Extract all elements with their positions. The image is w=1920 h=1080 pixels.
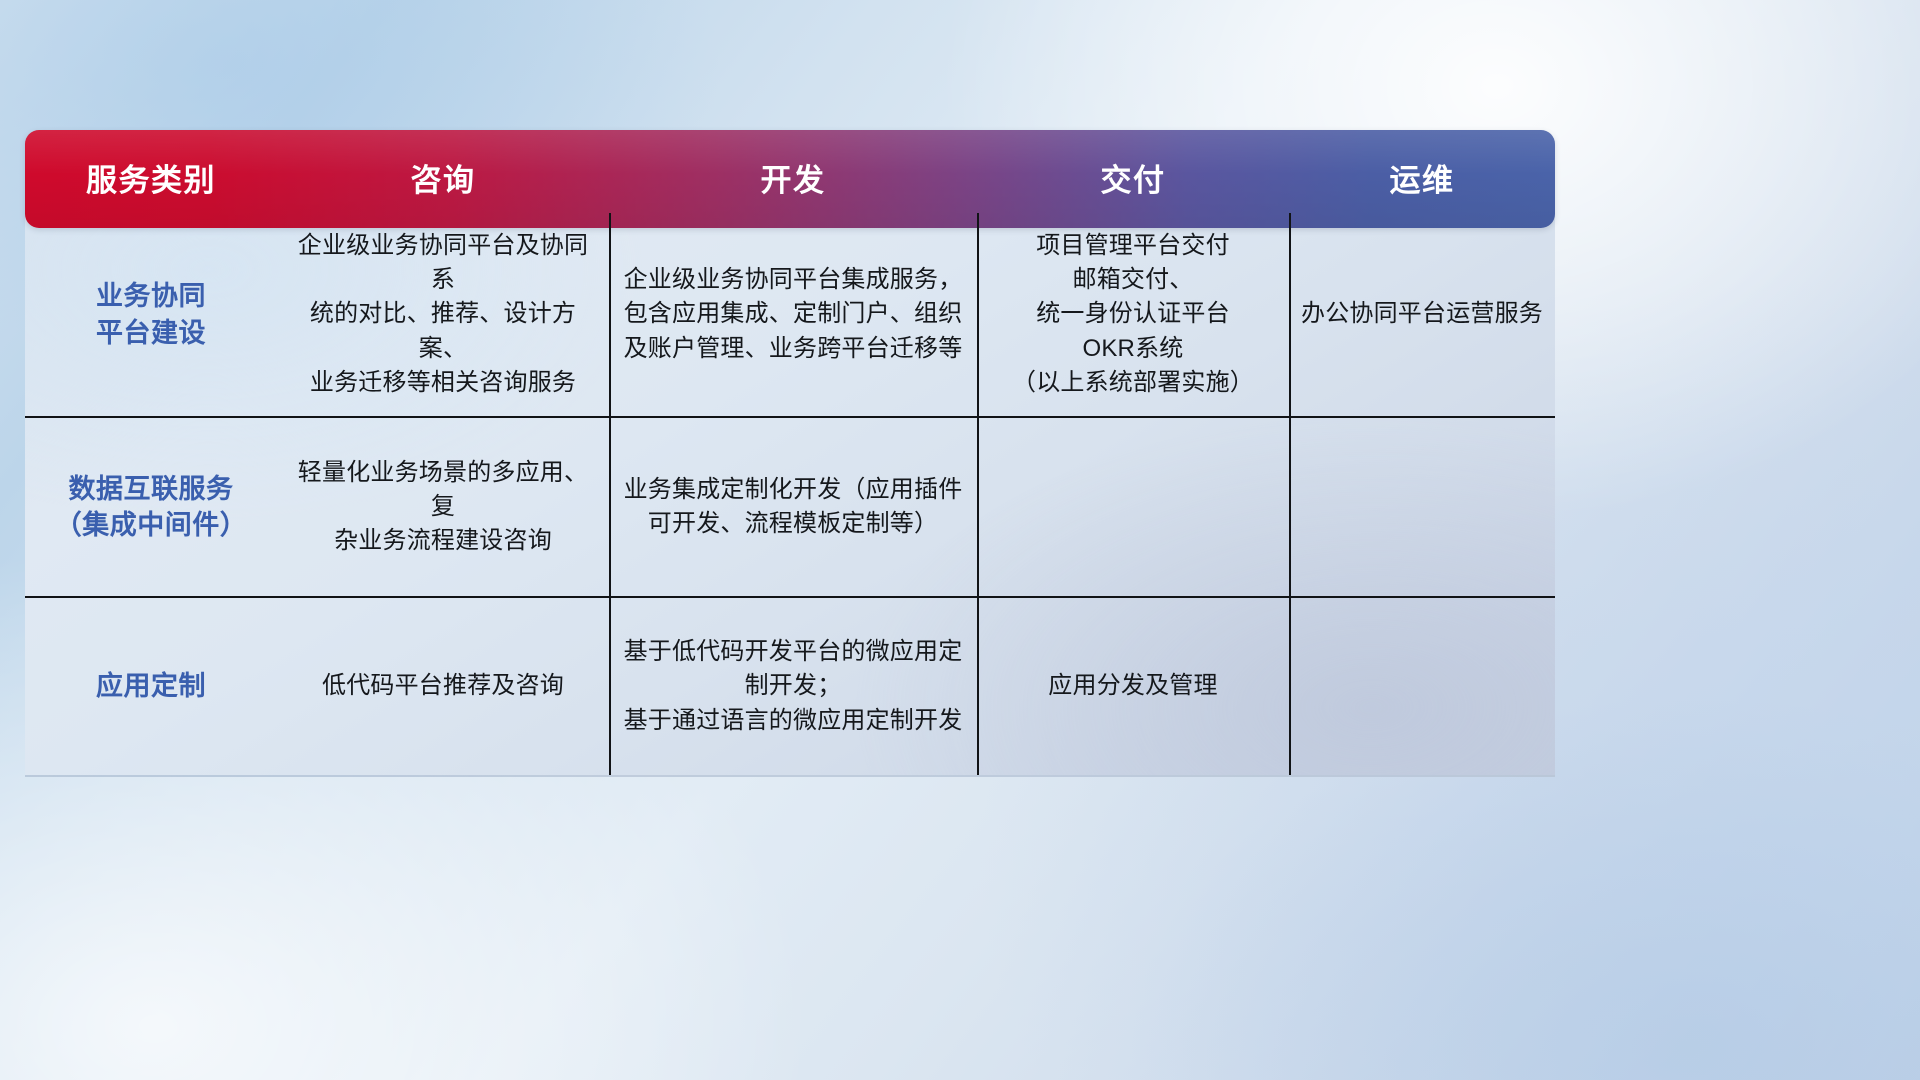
service-matrix-table: 服务类别 咨询 开发 交付 运维 业务协同 平台建设 企业级业务协同平台及协同系… <box>25 110 1555 775</box>
table-row: 业务协同 平台建设 企业级业务协同平台及协同系 统的对比、推荐、设计方案、 业务… <box>25 213 1555 418</box>
cell-operations <box>1289 418 1555 596</box>
cell-consulting: 轻量化业务场景的多应用、复 杂业务流程建设咨询 <box>277 418 609 596</box>
row-label-cell: 数据互联服务 （集成中间件） <box>25 418 277 596</box>
cell-text: 企业级业务协同平台集成服务， 包含应用集成、定制门户、组织 及账户管理、业务跨平… <box>624 263 963 365</box>
cell-text: 基于低代码开发平台的微应用定 制开发； 基于通过语言的微应用定制开发 <box>624 635 963 737</box>
row-label-text: 应用定制 <box>96 668 206 704</box>
row-label-cell: 应用定制 <box>25 598 277 775</box>
cell-text: 轻量化业务场景的多应用、复 杂业务流程建设咨询 <box>289 456 597 558</box>
cell-text: 业务集成定制化开发（应用插件 可开发、流程模板定制等） <box>624 473 963 541</box>
table-row: 应用定制 低代码平台推荐及咨询 基于低代码开发平台的微应用定 制开发； 基于通过… <box>25 598 1555 775</box>
cell-delivery: 应用分发及管理 <box>977 598 1289 775</box>
cell-development: 企业级业务协同平台集成服务， 包含应用集成、定制门户、组织 及账户管理、业务跨平… <box>609 213 977 416</box>
header-cell-delivery: 交付 <box>977 163 1289 196</box>
cell-operations <box>1289 598 1555 775</box>
cell-consulting: 企业级业务协同平台及协同系 统的对比、推荐、设计方案、 业务迁移等相关咨询服务 <box>277 213 609 416</box>
row-label-cell: 业务协同 平台建设 <box>25 213 277 416</box>
header-cell-operations: 运维 <box>1289 163 1555 196</box>
cell-development: 业务集成定制化开发（应用插件 可开发、流程模板定制等） <box>609 418 977 596</box>
cell-text: 项目管理平台交付 邮箱交付、 统一身份认证平台 OKR系统 （以上系统部署实施） <box>1012 229 1254 399</box>
table-rows: 业务协同 平台建设 企业级业务协同平台及协同系 统的对比、推荐、设计方案、 业务… <box>25 213 1555 775</box>
row-label-text: 业务协同 平台建设 <box>96 278 206 351</box>
cell-consulting: 低代码平台推荐及咨询 <box>277 598 609 775</box>
cell-text: 低代码平台推荐及咨询 <box>322 669 564 703</box>
header-cell-service-category: 服务类别 <box>25 163 277 196</box>
cell-delivery <box>977 418 1289 596</box>
header-cell-development: 开发 <box>609 163 977 196</box>
cell-text: 应用分发及管理 <box>1048 669 1217 703</box>
cell-delivery: 项目管理平台交付 邮箱交付、 统一身份认证平台 OKR系统 （以上系统部署实施） <box>977 213 1289 416</box>
table-row: 数据互联服务 （集成中间件） 轻量化业务场景的多应用、复 杂业务流程建设咨询 业… <box>25 418 1555 598</box>
cell-development: 基于低代码开发平台的微应用定 制开发； 基于通过语言的微应用定制开发 <box>609 598 977 775</box>
slide-canvas: 服务类别 咨询 开发 交付 运维 业务协同 平台建设 企业级业务协同平台及协同系… <box>0 0 1920 1080</box>
cell-operations: 办公协同平台运营服务 <box>1289 213 1555 416</box>
cell-text: 企业级业务协同平台及协同系 统的对比、推荐、设计方案、 业务迁移等相关咨询服务 <box>289 229 597 399</box>
cell-text: 办公协同平台运营服务 <box>1301 297 1543 331</box>
header-cell-consulting: 咨询 <box>277 163 609 196</box>
row-label-text: 数据互联服务 （集成中间件） <box>55 471 248 544</box>
